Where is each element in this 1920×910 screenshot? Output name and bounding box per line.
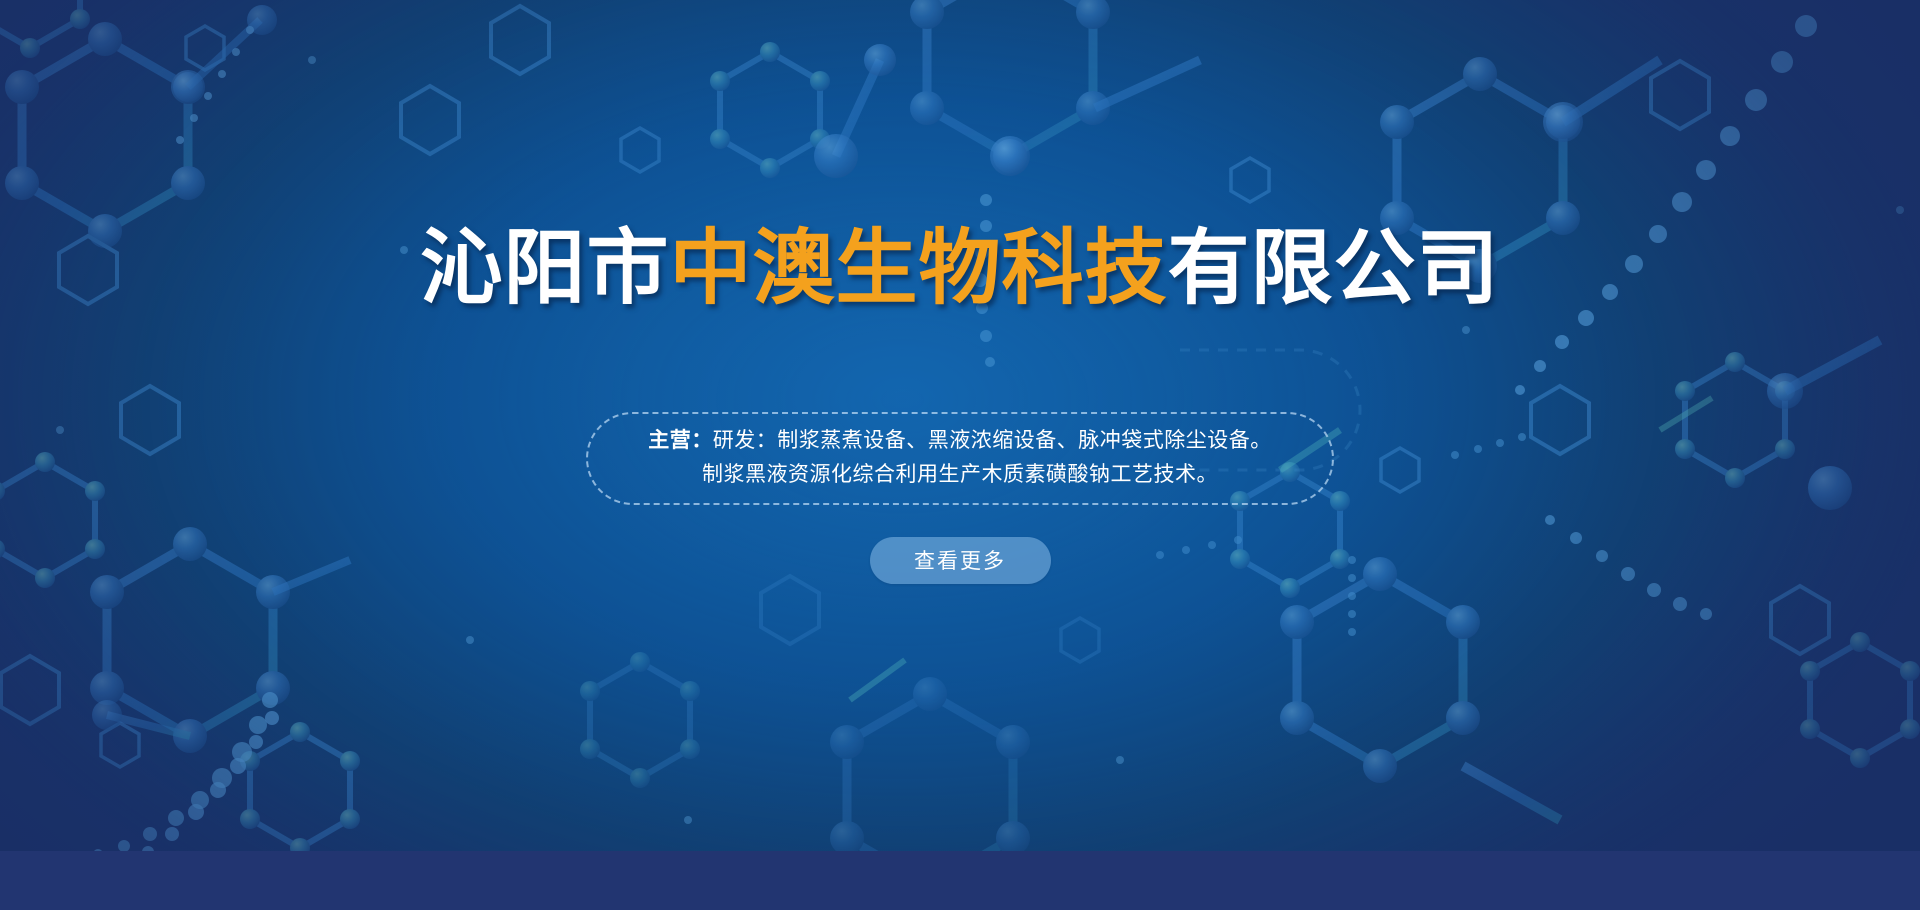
tagline-line-2: 制浆黑液资源化综合利用生产木质素磺酸钠工艺技术。 [702,461,1218,489]
page-title-suffix: 有限公司 [1168,223,1500,314]
tagline-box: 主营：研发：制浆蒸煮设备、黑液浓缩设备、脉冲袋式除尘设备。 制浆黑液资源化综合利… [586,412,1334,505]
tagline-line-1: 主营：研发：制浆蒸煮设备、黑液浓缩设备、脉冲袋式除尘设备。 [648,427,1272,455]
page-title: 沁阳市中澳生物科技有限公司 [420,228,1499,310]
tagline-line-1-text: 研发：制浆蒸煮设备、黑液浓缩设备、脉冲袋式除尘设备。 [713,429,1272,452]
page-title-prefix: 沁阳市 [420,223,669,314]
bottom-band [0,851,1920,910]
page-title-accent: 中澳生物科技 [669,223,1167,314]
view-more-button[interactable]: 查看更多 [870,537,1051,584]
page-root: 沁阳市中澳生物科技有限公司 主营：研发：制浆蒸煮设备、黑液浓缩设备、脉冲袋式除尘… [0,0,1920,910]
hero-banner: 沁阳市中澳生物科技有限公司 主营：研发：制浆蒸煮设备、黑液浓缩设备、脉冲袋式除尘… [0,0,1920,851]
hero-content: 沁阳市中澳生物科技有限公司 主营：研发：制浆蒸煮设备、黑液浓缩设备、脉冲袋式除尘… [0,0,1920,851]
tagline-lead-label: 主营： [648,429,713,452]
